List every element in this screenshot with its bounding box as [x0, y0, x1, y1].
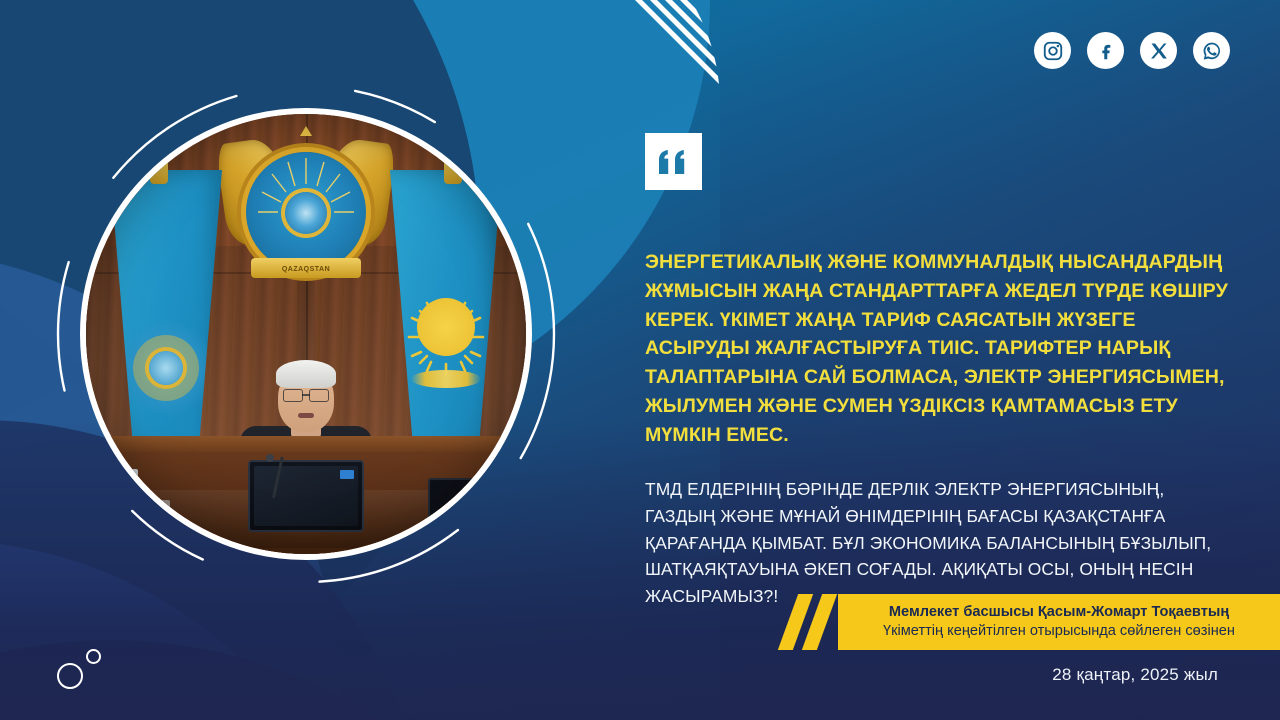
attribution-banner: Мемлекет басшысы Қасым-Жомарт Тоқаевтың … [838, 594, 1280, 650]
quote-glyph [659, 150, 689, 174]
stripe-line [552, 0, 720, 38]
tassel-knot [444, 156, 462, 184]
tassel-cord-a [450, 114, 452, 158]
stripe-line [552, 0, 720, 83]
flag-sun-disc [417, 298, 475, 356]
flag-left-emblem [118, 320, 214, 416]
flag-steppe-eagle [411, 370, 481, 388]
decorative-circle-small [86, 649, 101, 664]
social-link-instagram[interactable] [1034, 32, 1071, 69]
emblem-shanyrak [285, 192, 327, 234]
facebook-icon [1095, 40, 1117, 62]
stripe-line [552, 0, 720, 104]
flag-tassel-left [148, 114, 170, 186]
quotation-mark-icon [645, 133, 702, 190]
attribution-occasion: Үкіметтің кеңейтілген отырысында сөйлеге… [883, 622, 1235, 641]
quote-headline: ЭНЕРГЕТИКАЛЫҚ ЖӘНЕ КОММУНАЛДЫҚ НЫСАНДАРД… [645, 248, 1230, 450]
stripe-line [552, 0, 720, 98]
decorative-circle-large [57, 663, 83, 689]
social-link-facebook[interactable] [1087, 32, 1124, 69]
tassel-knot [150, 156, 168, 184]
water-bottle [124, 476, 139, 528]
microphone-head [266, 454, 274, 462]
emblem-country-label: QAZAQSTAN [282, 266, 330, 273]
photo-scene: QAZAQSTAN [86, 114, 526, 554]
flag-tassel-right [442, 114, 464, 186]
drinking-glass [148, 500, 170, 530]
desk-top-edge [86, 436, 526, 452]
tassel-cord-a [156, 114, 158, 158]
speaker-glasses-icon [283, 389, 329, 400]
stripe-line [552, 0, 720, 104]
desk-papers [410, 537, 450, 546]
stripe-line [552, 0, 720, 8]
instagram-icon [1042, 40, 1064, 62]
speaker-photo: QAZAQSTAN [80, 108, 532, 560]
quote-card: QAZAQSTAN [0, 0, 1280, 720]
attribution-speaker: Мемлекет басшысы Қасым-Жомарт Тоқаевтың [889, 603, 1229, 621]
banner-slash-decoration [788, 594, 838, 650]
stripe-line [552, 0, 720, 104]
flag-left-emblem-core [149, 351, 183, 385]
publication-date: 28 қаңтар, 2025 жыл [1052, 665, 1218, 685]
tassel-cord-b [161, 114, 163, 158]
laptop-screen [248, 460, 364, 532]
desk-nameplate [132, 530, 198, 546]
whatsapp-icon [1201, 40, 1223, 62]
speaker-hair [276, 360, 336, 388]
quote-body: ТМД ЕЛДЕРІНІҢ БӘРІНДЕ ДЕРЛІК ЭЛЕКТР ЭНЕР… [645, 476, 1230, 611]
clock-face [461, 515, 477, 531]
background-arc-navy [0, 640, 600, 720]
desk-clock [456, 510, 482, 542]
laptop-sticker [340, 470, 354, 479]
tassel-cord-b [455, 114, 457, 158]
quote-content: ЭНЕРГЕТИКАЛЫҚ ЖӘНЕ КОММУНАЛДЫҚ НЫСАНДАРД… [645, 133, 1230, 610]
stripe-line [552, 0, 720, 53]
stripe-line [552, 0, 720, 23]
photo-circle-frame: QAZAQSTAN [80, 108, 532, 560]
social-link-x[interactable] [1140, 32, 1177, 69]
emblem-base: QAZAQSTAN [251, 258, 361, 278]
speaker-mouth [298, 413, 314, 418]
social-links [1034, 32, 1230, 69]
kazakhstan-coat-of-arms-icon: QAZAQSTAN [220, 130, 392, 280]
emblem-star [300, 126, 312, 136]
water-bottle-cap [125, 469, 138, 478]
x-twitter-icon [1149, 41, 1169, 61]
social-link-whatsapp[interactable] [1193, 32, 1230, 69]
stripe-line [552, 0, 720, 68]
